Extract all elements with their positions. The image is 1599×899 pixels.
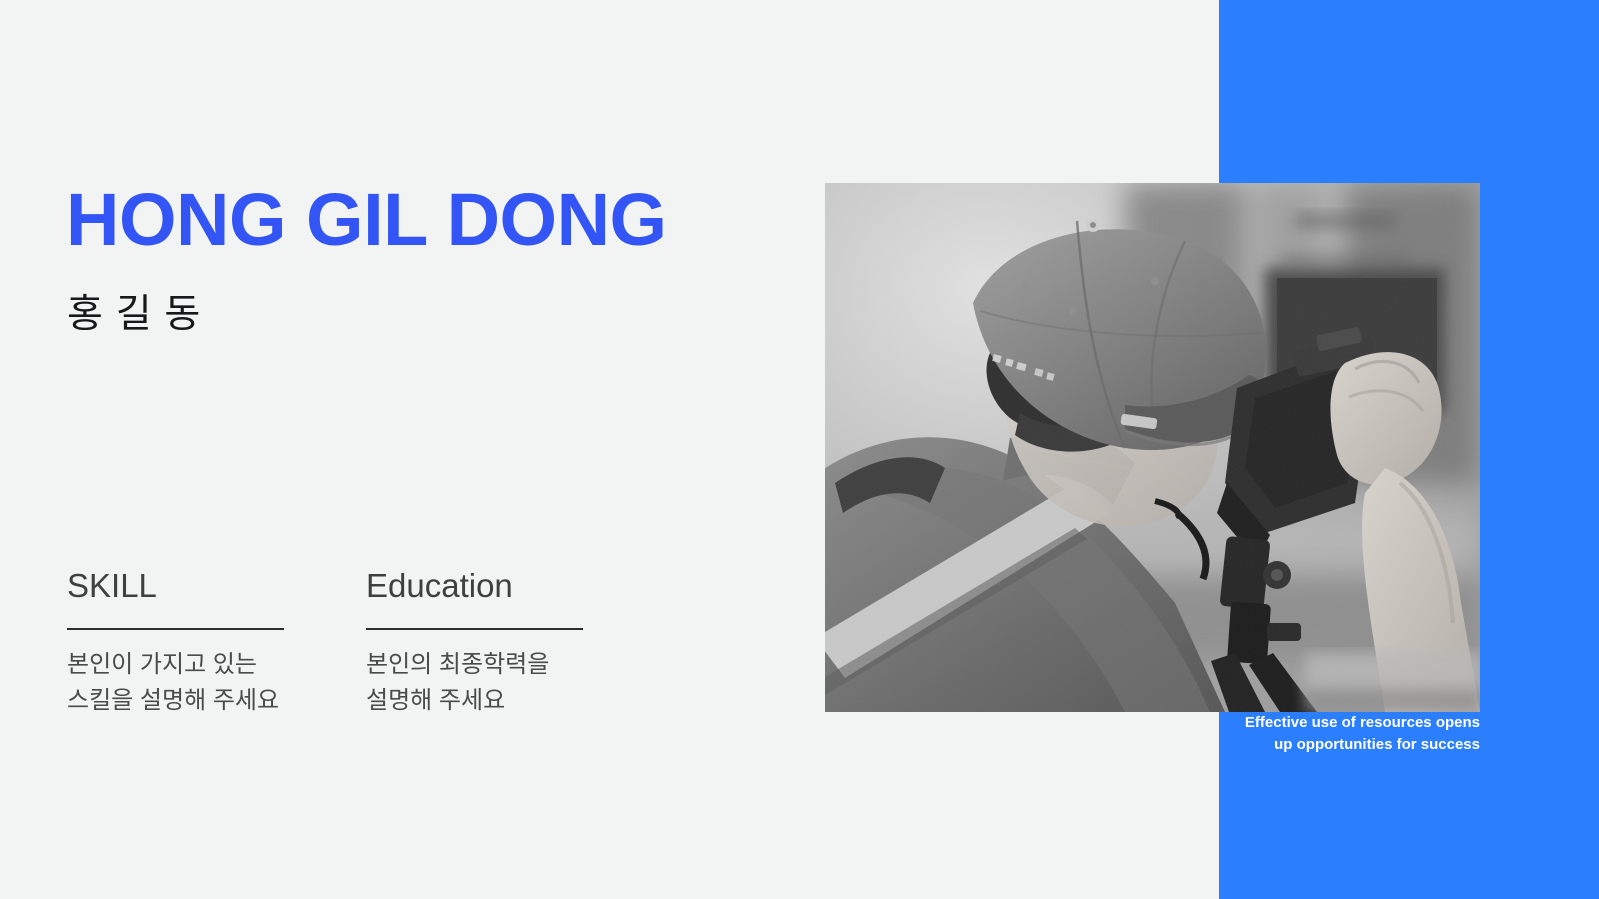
section-skill-body: 본인이 가지고 있는 스킬을 설명해 주세요 xyxy=(67,647,357,719)
subtitle-name-korean: 홍 길 동 xyxy=(67,290,201,340)
photo-caption: Effective use of resources opens up oppo… xyxy=(1219,712,1480,756)
section-skill: SKILL 본인이 가지고 있는 스킬을 설명해 주세요 xyxy=(67,565,357,719)
resume-slide: HONG GIL DONG 홍 길 동 SKILL 본인이 가지고 있는 스킬을… xyxy=(0,0,1599,899)
section-education-divider xyxy=(366,628,583,630)
section-education-body: 본인의 최종학력을 설명해 주세요 xyxy=(366,647,656,719)
section-skill-heading: SKILL xyxy=(67,565,357,607)
section-education-heading: Education xyxy=(366,565,656,607)
section-skill-divider xyxy=(67,628,284,630)
page-title: HONG GIL DONG xyxy=(66,178,667,262)
section-education: Education 본인의 최종학력을 설명해 주세요 xyxy=(366,565,656,719)
profile-photo xyxy=(825,183,1480,712)
